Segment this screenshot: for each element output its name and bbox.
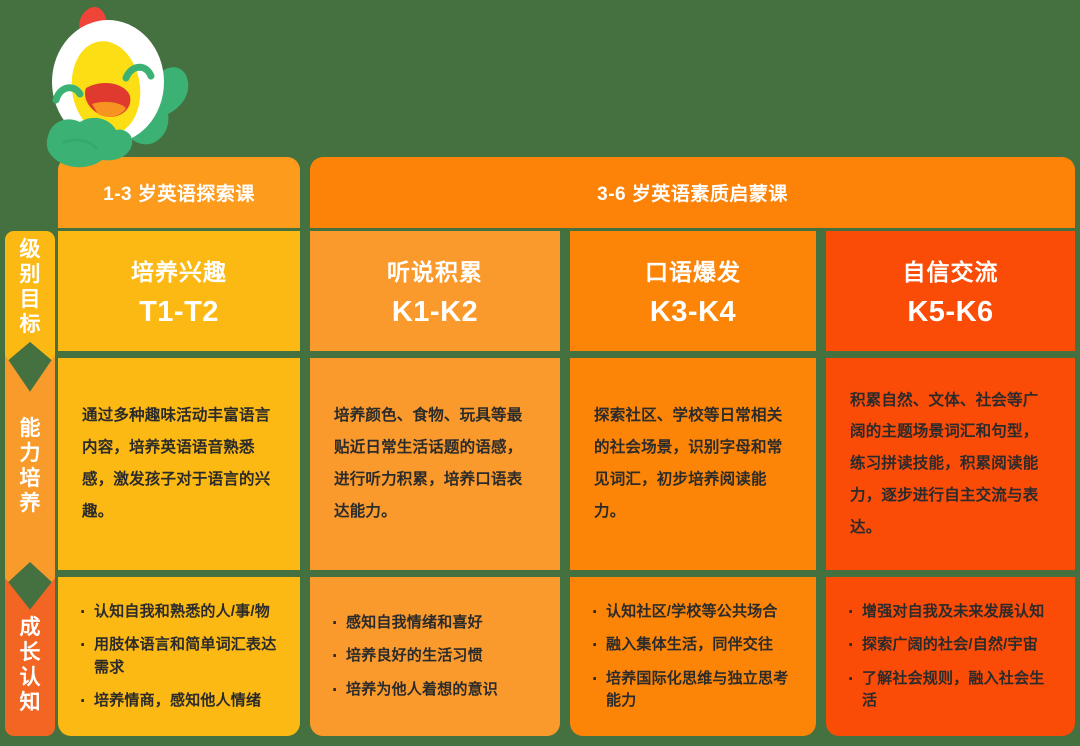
goal-title: 听说积累 xyxy=(387,253,483,287)
ability-text: 探索社区、学校等日常相关的社会场景，识别字母和常见词汇，初步培养阅读能力。 xyxy=(594,400,792,527)
goal-code: K1-K2 xyxy=(392,296,478,329)
ability-text: 培养颜色、食物、玩具等最贴近日常生活话题的语感，进行听力积累，培养口语表达能力。 xyxy=(334,400,536,527)
growth-bullet: 培养情商，感知他人情绪 xyxy=(78,690,280,712)
goal-title: 口语爆发 xyxy=(645,253,741,287)
growth-bullet: 认知自我和熟悉的人/事/物 xyxy=(78,601,280,623)
ability-cell-column-1: 通过多种趣味活动丰富语言内容，培养英语语音熟悉感，激发孩子对于语言的兴趣。 xyxy=(58,358,300,570)
sidebar-item-ability-cultivation: 能 力 培 养 xyxy=(5,355,55,585)
growth-cell-column-4: 增强对自我及未来发展认知 探索广阔的社会/自然/宇宙 了解社会规则，融入社会生活 xyxy=(826,577,1075,736)
growth-cell-column-2: 感知自我情绪和喜好 培养良好的生活习惯 培养为他人着想的意识 xyxy=(310,577,560,736)
growth-bullet: 融入集体生活，同伴交往 xyxy=(590,634,796,656)
growth-bullet: 认知社区/学校等公共场合 xyxy=(590,601,796,623)
course-level-chart: 1-3 岁英语探索课 3-6 岁英语素质启蒙课 级 别 目 标 能 力 培 养 … xyxy=(0,0,1080,746)
ability-cell-column-4: 积累自然、文体、社会等广阔的主题场景词汇和句型，练习拼读技能，积累阅读能力，逐步… xyxy=(826,358,1075,570)
goal-title: 培养兴趣 xyxy=(131,253,227,287)
sidebar-label-char: 长 xyxy=(20,641,41,666)
goal-title: 自信交流 xyxy=(903,253,999,287)
sidebar-label-char: 认 xyxy=(20,666,41,691)
sidebar-label-char: 能 xyxy=(20,417,41,442)
header-group-3-6: 3-6 岁英语素质启蒙课 xyxy=(310,157,1075,228)
growth-bullet: 培养国际化思维与独立思考能力 xyxy=(590,668,796,712)
sidebar-label-char: 目 xyxy=(20,288,41,313)
growth-bullet: 增强对自我及未来发展认知 xyxy=(846,601,1055,623)
growth-bullet: 感知自我情绪和喜好 xyxy=(330,612,540,634)
growth-bullet: 了解社会规则，融入社会生活 xyxy=(846,668,1055,712)
goal-code: K3-K4 xyxy=(650,296,736,329)
header-group-label: 1-3 岁英语探索课 xyxy=(103,179,255,206)
ability-cell-column-2: 培养颜色、食物、玩具等最贴近日常生活话题的语感，进行听力积累，培养口语表达能力。 xyxy=(310,358,560,570)
sidebar-label-char: 知 xyxy=(20,691,41,716)
goal-cell-column-2: 听说积累 K1-K2 xyxy=(310,231,560,351)
sidebar-label-char: 级 xyxy=(20,238,41,263)
goal-code: T1-T2 xyxy=(139,296,219,329)
sidebar-item-level-goal: 级 别 目 标 xyxy=(5,231,55,363)
growth-bullet: 用肢体语言和简单词汇表达需求 xyxy=(78,634,280,678)
sidebar-item-growth-cognition: 成 长 认 知 xyxy=(5,578,55,736)
sidebar-label-char: 养 xyxy=(20,492,41,517)
goal-code: K5-K6 xyxy=(907,296,993,329)
growth-cell-column-1: 认知自我和熟悉的人/事/物 用肢体语言和简单词汇表达需求 培养情商，感知他人情绪 xyxy=(58,577,300,736)
ability-cell-column-3: 探索社区、学校等日常相关的社会场景，识别字母和常见词汇，初步培养阅读能力。 xyxy=(570,358,816,570)
goal-cell-column-1: 培养兴趣 T1-T2 xyxy=(58,231,300,351)
ability-text: 积累自然、文体、社会等广阔的主题场景词汇和句型，练习拼读技能，积累阅读能力，逐步… xyxy=(850,385,1051,544)
goal-cell-column-4: 自信交流 K5-K6 xyxy=(826,231,1075,351)
sidebar-label-char: 别 xyxy=(20,263,41,288)
growth-cell-column-3: 认知社区/学校等公共场合 融入集体生活，同伴交往 培养国际化思维与独立思考能力 xyxy=(570,577,816,736)
sidebar-label-char: 培 xyxy=(20,467,41,492)
growth-bullet: 探索广阔的社会/自然/宇宙 xyxy=(846,634,1055,656)
sidebar-label-char: 标 xyxy=(20,313,41,338)
ability-text: 通过多种趣味活动丰富语言内容，培养英语语音熟悉感，激发孩子对于语言的兴趣。 xyxy=(82,400,276,527)
growth-bullet: 培养良好的生活习惯 xyxy=(330,645,540,667)
sidebar-label-char: 力 xyxy=(20,442,41,467)
header-group-label: 3-6 岁英语素质启蒙课 xyxy=(597,179,788,206)
sidebar-label-char: 成 xyxy=(20,616,41,641)
goal-cell-column-3: 口语爆发 K3-K4 xyxy=(570,231,816,351)
chick-mascot-icon xyxy=(18,0,208,175)
growth-bullet: 培养为他人着想的意识 xyxy=(330,679,540,701)
